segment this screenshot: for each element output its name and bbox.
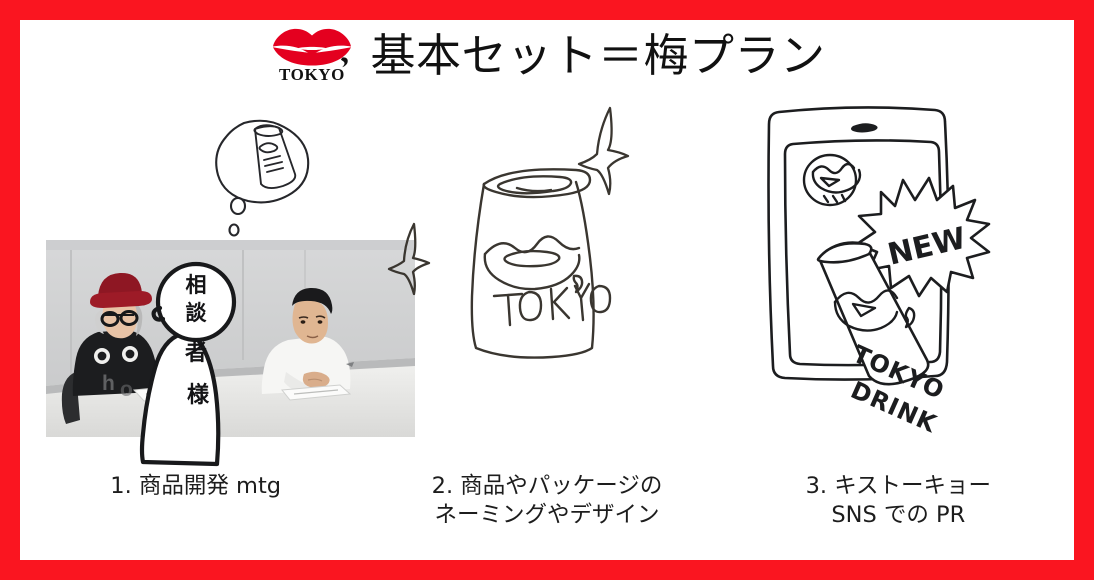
panel-sns-pr: NEW TOKYO DRINK [723,96,1074,560]
panel-3-caption: 3. キストーキョー SNS での PR [723,472,1074,530]
frame-border-top [0,0,1094,20]
panel-3-artwork: NEW TOKYO DRINK [723,96,1074,466]
svg-text:者: 者 [184,341,207,366]
frame-border-bottom [0,560,1094,580]
panel-2-caption-line-2: ネーミングやデザイン [371,501,722,530]
panel-2-caption-line-1: 2. 商品やパッケージの [371,472,722,501]
panel-3-caption-line-2: SNS での PR [723,501,1074,530]
svg-text:様: 様 [187,382,210,408]
panel-1-artwork: h o [20,96,371,466]
svg-text:相: 相 [186,273,207,297]
brand-wordmark: TOKYO [279,65,345,84]
panel-naming-and-design: 2. 商品やパッケージの ネーミングやデザイン [371,96,722,560]
doodle-label-soudanshasama: 相 談 者 様 [184,273,210,408]
drink-can-sketch [371,96,723,466]
client-doodle-figure: 相 談 者 様 [20,96,372,466]
panel-1-caption: 1. 商品開発 mtg [20,472,371,501]
slide-root: TOKYO 基本セット＝梅プラン [0,0,1094,580]
panel-2-artwork [371,96,722,466]
panel-1-caption-line-1: 1. 商品開発 mtg [20,472,371,501]
panel-3-caption-line-1: 3. キストーキョー [723,472,1074,501]
red-lips-icon [273,29,351,66]
page-title: 基本セット＝梅プラン [370,33,825,78]
lips-avatar-icon [804,155,860,205]
smartphone-sns-post-sketch: NEW TOKYO DRINK [723,96,1075,466]
phone-camera-icon [851,123,878,132]
panel-2-caption: 2. 商品やパッケージの ネーミングやデザイン [371,472,722,530]
kiss-tokyo-logo: TOKYO [268,26,356,84]
panels-row: h o [20,96,1074,560]
panel-product-dev-meeting: h o [20,96,371,560]
slide-header: TOKYO 基本セット＝梅プラン [0,20,1094,90]
svg-text:談: 談 [186,301,208,325]
sparkle-icon-left [389,224,429,294]
sparkle-icon-top-right [579,108,628,194]
